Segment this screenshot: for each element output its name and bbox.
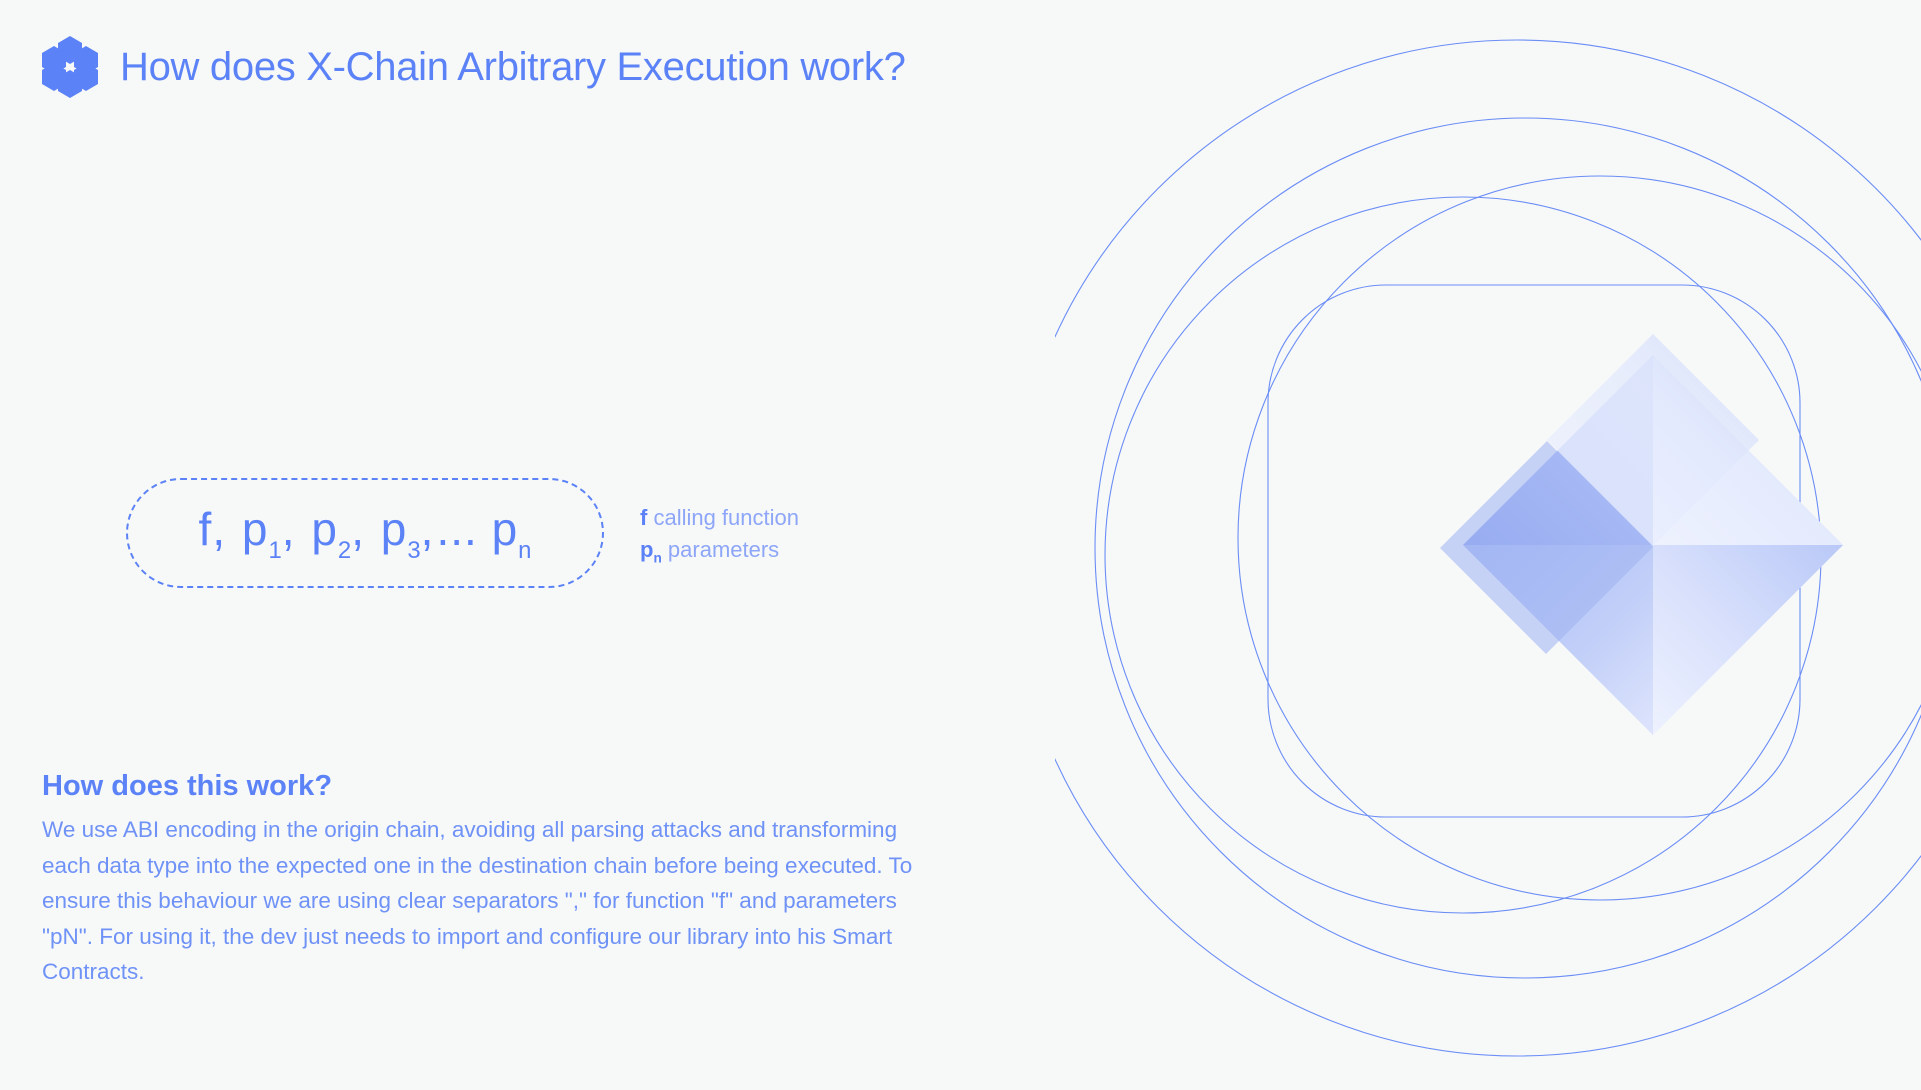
token-p1-sub: 1 [268,537,281,564]
token-p2: p [311,503,338,555]
formula-legend: f calling function pn parameters [640,502,799,568]
legend-row-function: f calling function [640,502,799,534]
formula-expression: f, p1, p2, p3,... pn [199,506,532,560]
token-p3-sub: 3 [407,537,420,564]
explainer-body: We use ABI encoding in the origin chain,… [42,812,922,990]
formula-pill: f, p1, p2, p3,... pn [126,478,604,588]
token-sep-4: , [421,503,437,555]
token-sep-1: , [212,503,228,555]
legend-symbol-pn: pn [640,537,662,562]
fourth-circle [1238,176,1921,900]
large-outer-circle [1055,40,1921,1056]
explainer-heading: How does this work? [42,768,922,804]
diamond-quadrant-top-right [1463,355,1843,735]
token-ellipsis: ... [436,503,477,555]
explainer-section: How does this work? We use ABI encoding … [42,768,922,990]
token-sep-2: , [282,503,298,555]
diamond-overlay-block [1547,334,1759,546]
legend-symbol-pn-base: p [640,537,653,562]
legend-row-parameters: pn parameters [640,534,799,568]
legend-desc-pn: parameters [668,537,779,562]
token-p2-sub: 2 [338,537,351,564]
legend-desc-f: calling function [653,505,799,530]
token-pn-sub: n [518,537,531,564]
legend-symbol-pn-sub: n [653,550,661,565]
decorative-geometry-art [1055,0,1921,1090]
diamond-tri-bottom-left [1463,545,1653,735]
token-p1: p [242,503,269,555]
token-function: f [199,503,213,555]
second-circle [1095,118,1921,978]
token-pn: p [492,503,519,555]
page-title: How does X-Chain Arbitrary Execution wor… [120,47,906,87]
diamond-tri-bottom-right [1653,545,1843,735]
rounded-square-frame [1268,285,1800,817]
token-sep-3: , [351,503,367,555]
hexagon-flower-logo-icon [42,36,98,98]
token-p3: p [381,503,408,555]
gradient-diamond [1440,334,1843,735]
page-header: How does X-Chain Arbitrary Execution wor… [42,36,906,98]
third-circle [1105,197,1821,913]
formula-block: f, p1, p2, p3,... pn f calling function … [126,478,799,588]
diamond-tri-top-right [1653,355,1843,545]
diamond-overlay-dark [1440,441,1653,654]
legend-symbol-f: f [640,505,647,530]
diamond-tri-top-left [1463,355,1653,545]
